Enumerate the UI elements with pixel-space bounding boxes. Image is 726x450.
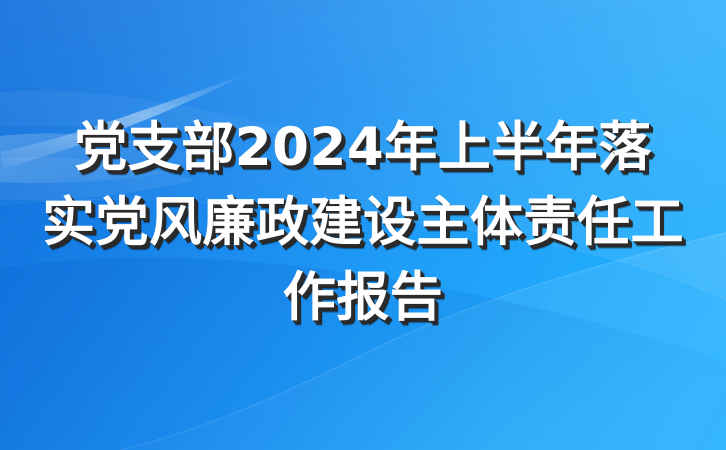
title-line-1: 党支部2024年上半年落 xyxy=(74,110,652,185)
title-line-3: 作报告 xyxy=(283,260,444,335)
title-card: 党支部2024年上半年落 实党风廉政建设主体责任工 作报告 xyxy=(0,0,726,450)
title-text-block: 党支部2024年上半年落 实党风廉政建设主体责任工 作报告 xyxy=(0,0,726,450)
title-line-2: 实党风廉政建设主体责任工 xyxy=(42,185,684,260)
